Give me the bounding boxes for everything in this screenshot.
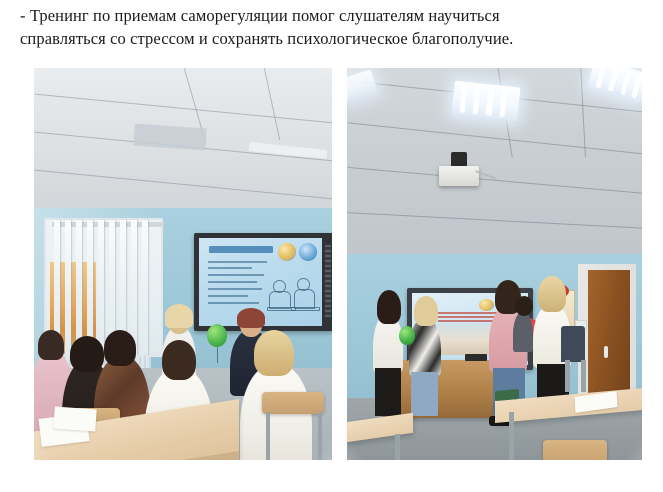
photo-right-scene [347, 68, 642, 460]
lamp-tube [596, 68, 607, 88]
person-standing [409, 318, 441, 376]
slide-text-line [428, 312, 505, 314]
slide-bullet-line [208, 274, 265, 276]
slide-figure-icon [294, 289, 316, 309]
lamp-tube [460, 85, 468, 113]
balloon-green [207, 324, 227, 347]
door-handle-icon[interactable] [604, 346, 608, 358]
slide-page: - Тренинг по приемам саморегуляции помог… [0, 0, 663, 492]
slide-bullet-line [208, 281, 257, 283]
person-standing-back [513, 312, 533, 352]
paper-sheet [53, 407, 96, 432]
chair-leg [565, 360, 570, 392]
chair-leg [581, 360, 586, 392]
lamp-tube [608, 68, 619, 92]
desk-leg [509, 412, 514, 460]
cabinet-item [465, 354, 487, 361]
blind-slat [76, 220, 82, 355]
projector-mount [451, 152, 467, 167]
slide-emblem-icon [299, 243, 317, 261]
photo-right [347, 68, 642, 460]
caption-text: - Тренинг по приемам саморегуляции помог… [20, 4, 620, 50]
slide-bench-icon [291, 307, 320, 312]
blind-slat [142, 220, 148, 355]
balloon-green [399, 326, 415, 345]
person-hair [162, 340, 196, 380]
lamp-tube [486, 88, 494, 116]
chair-back [543, 440, 607, 460]
whiteboard-toolbar [325, 245, 331, 317]
chair-leg [318, 412, 322, 460]
slide-emblem-icon [479, 299, 494, 311]
person-hair [237, 308, 265, 328]
slide-emblem-icon [278, 243, 296, 261]
photo-left [34, 68, 332, 460]
slide-bullet-line [208, 288, 262, 290]
person-hair [104, 330, 136, 366]
person-hair [414, 296, 438, 326]
caption-line-2: справляться со стрессом и сохранять псих… [20, 27, 620, 50]
slide-bullet-line [208, 267, 252, 269]
person-hair [377, 290, 401, 324]
ceiling-light-panel [451, 81, 520, 122]
person-hair [515, 296, 533, 316]
photo-left-scene [34, 68, 332, 460]
chair-back [262, 392, 324, 414]
chair-blue [561, 326, 585, 362]
lamp-tube [473, 86, 481, 114]
slide-title-bar [209, 246, 273, 253]
blind-slat [87, 220, 93, 355]
blind-slat [65, 220, 71, 355]
lamp-tube [631, 74, 642, 98]
person-hair [38, 330, 64, 360]
slide-bullet-line [208, 302, 260, 304]
slide-text-line [438, 320, 496, 322]
lamp-tube [620, 71, 631, 95]
blind-slat [98, 220, 104, 355]
chair-leg [266, 412, 270, 460]
person-hair [70, 336, 104, 372]
ceiling-projector [439, 166, 479, 186]
person-legs [375, 368, 401, 416]
desk-leg [395, 434, 400, 460]
lamp-tube [499, 89, 507, 117]
notebook [495, 389, 519, 401]
person-hair [254, 330, 294, 376]
slide-figure-icon [269, 291, 291, 309]
slide-bullet-line [208, 295, 249, 297]
blind-slat [131, 220, 137, 355]
person-hair [165, 304, 193, 328]
person-hair [538, 276, 566, 312]
slide-bullet-line [208, 261, 267, 263]
caption-line-1: - Тренинг по приемам саморегуляции помог… [20, 4, 620, 27]
person-legs [411, 372, 438, 416]
